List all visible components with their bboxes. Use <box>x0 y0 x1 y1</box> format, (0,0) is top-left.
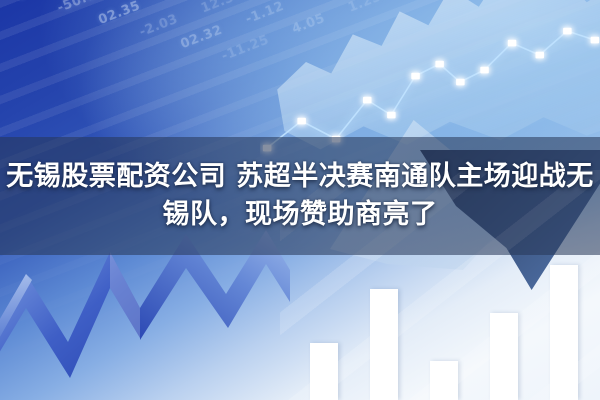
bar-column <box>430 361 459 400</box>
chart-node-marker <box>363 97 372 104</box>
bar-column <box>550 265 579 400</box>
bar-column <box>310 343 339 400</box>
chart-node-marker <box>456 79 465 86</box>
headline-line-2: 锡队，现场赞助商亮了 <box>163 199 438 231</box>
bottom-bar-chart <box>300 230 600 400</box>
headline-line-1: 无锡股票配资公司 苏超半决赛南通队主场迎战无 <box>6 161 593 193</box>
stock-news-banner: -04.05-1.25-02.36-11.2545.0221.364.05-1.… <box>0 0 600 400</box>
chart-node-marker <box>297 118 306 125</box>
chart-node-marker <box>508 40 517 47</box>
bar-column <box>490 313 519 400</box>
chart-node-marker <box>435 61 444 68</box>
chart-node-marker <box>591 37 600 44</box>
headline-block: 无锡股票配资公司 苏超半决赛南通队主场迎战无 锡队，现场赞助商亮了 <box>0 137 600 255</box>
chart-node-marker <box>480 67 489 74</box>
chart-node-marker <box>387 112 396 119</box>
chart-node-marker <box>536 52 545 59</box>
chart-node-marker <box>411 73 420 80</box>
chart-node-marker <box>563 28 572 35</box>
bar-column <box>370 289 399 400</box>
